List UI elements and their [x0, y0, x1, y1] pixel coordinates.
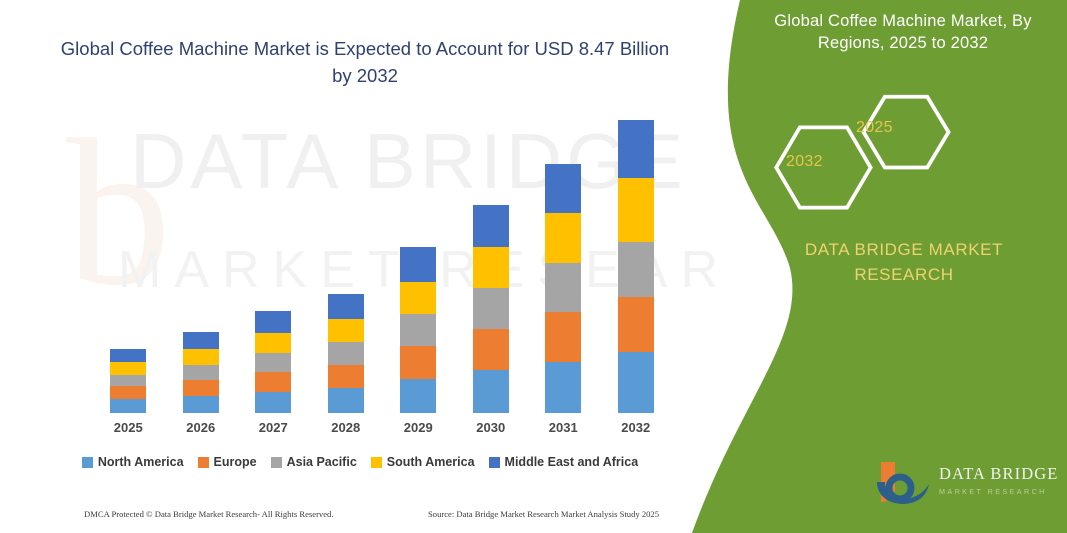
- x-axis-tick: 2027: [243, 420, 303, 435]
- bar-column: [545, 164, 581, 413]
- bar-segment: [183, 332, 219, 349]
- x-axis-tick: 2028: [316, 420, 376, 435]
- legend-item[interactable]: North America: [82, 455, 184, 469]
- bar-segment: [255, 372, 291, 392]
- legend-swatch-icon: [198, 457, 209, 468]
- bar-segment: [473, 329, 509, 371]
- legend-label: Europe: [214, 455, 257, 469]
- bar-segment: [255, 353, 291, 372]
- chart-title: Global Coffee Machine Market is Expected…: [60, 36, 670, 90]
- legend-item[interactable]: Asia Pacific: [271, 455, 357, 469]
- bar-segment: [400, 282, 436, 315]
- bar-segment: [618, 297, 654, 352]
- legend-label: Asia Pacific: [287, 455, 357, 469]
- legend-item[interactable]: Middle East and Africa: [489, 455, 639, 469]
- bar-segment: [400, 379, 436, 413]
- bar-segment: [110, 349, 146, 361]
- bar-segment: [400, 314, 436, 346]
- hexagon-2025-label: 2025: [856, 119, 893, 137]
- bar-segment: [183, 349, 219, 365]
- chart-area: Global Coffee Machine Market is Expected…: [0, 0, 720, 533]
- legend-label: South America: [387, 455, 475, 469]
- chart-legend: North AmericaEuropeAsia PacificSouth Ame…: [0, 455, 720, 469]
- legend-swatch-icon: [82, 457, 93, 468]
- x-axis-labels: 20252026202720282029203020312032: [92, 420, 672, 444]
- bar-segment: [618, 120, 654, 178]
- bar-column: [400, 247, 436, 413]
- x-axis-tick: 2031: [533, 420, 593, 435]
- bar-segment: [545, 312, 581, 362]
- bar-segment: [328, 388, 364, 413]
- x-axis-tick: 2025: [98, 420, 158, 435]
- bar-segment: [255, 333, 291, 353]
- bar-column: [255, 311, 291, 413]
- footer-copyright: DMCA Protected © Data Bridge Market Rese…: [84, 509, 334, 519]
- bar-segment: [545, 362, 581, 413]
- bar-segment: [328, 365, 364, 389]
- bar-column: [473, 205, 509, 413]
- bar-segment: [183, 396, 219, 413]
- bar-segment: [473, 247, 509, 289]
- x-axis-tick: 2032: [606, 420, 666, 435]
- bar-segment: [473, 205, 509, 247]
- bar-segment: [618, 242, 654, 297]
- x-axis-tick: 2030: [461, 420, 521, 435]
- bar-segment: [618, 178, 654, 242]
- stacked-bar-plot: [92, 120, 672, 413]
- footer: DMCA Protected © Data Bridge Market Rese…: [0, 505, 720, 527]
- bar-segment: [328, 342, 364, 364]
- panel-title: Global Coffee Machine Market, By Regions…: [747, 10, 1059, 55]
- footer-source: Source: Data Bridge Market Research Mark…: [428, 509, 659, 519]
- x-axis-tick: 2026: [171, 420, 231, 435]
- bar-segment: [545, 263, 581, 312]
- bar-segment: [183, 380, 219, 396]
- legend-swatch-icon: [271, 457, 282, 468]
- bar-segment: [400, 346, 436, 379]
- bar-segment: [328, 294, 364, 319]
- bar-segment: [473, 370, 509, 413]
- bar-segment: [545, 164, 581, 214]
- bar-column: [618, 120, 654, 413]
- logo-mark-icon: [875, 458, 935, 508]
- bar-segment: [110, 375, 146, 387]
- legend-swatch-icon: [371, 457, 382, 468]
- legend-swatch-icon: [489, 457, 500, 468]
- bar-segment: [473, 288, 509, 328]
- logo-title: DATA BRIDGE: [939, 464, 1058, 484]
- panel-brand-text: DATA BRIDGE MARKET RESEARCH: [753, 238, 1055, 287]
- legend-item[interactable]: South America: [371, 455, 475, 469]
- bar-segment: [255, 392, 291, 413]
- legend-item[interactable]: Europe: [198, 455, 257, 469]
- hexagon-2032-label: 2032: [786, 153, 823, 171]
- bar-segment: [400, 247, 436, 281]
- green-panel-content: Global Coffee Machine Market, By Regions…: [737, 0, 1067, 533]
- bar-segment: [618, 352, 654, 413]
- legend-label: North America: [98, 455, 184, 469]
- hexagon-group: 2032 2025: [755, 92, 1055, 212]
- bar-segment: [328, 319, 364, 343]
- infographic-page: Global Coffee Machine Market, By Regions…: [0, 0, 1067, 533]
- logo-text: DATA BRIDGE MARKET RESEARCH: [939, 464, 1058, 496]
- bar-segment: [255, 311, 291, 333]
- x-axis-tick: 2029: [388, 420, 448, 435]
- bar-segment: [183, 365, 219, 380]
- legend-label: Middle East and Africa: [505, 455, 639, 469]
- bar-segment: [110, 399, 146, 413]
- logo-subtitle: MARKET RESEARCH: [939, 487, 1058, 496]
- bar-column: [110, 349, 146, 413]
- bar-column: [328, 294, 364, 413]
- bar-segment: [110, 386, 146, 399]
- bar-segment: [110, 362, 146, 375]
- data-bridge-logo: DATA BRIDGE MARKET RESEARCH: [875, 458, 1065, 514]
- bar-column: [183, 332, 219, 413]
- bar-segment: [545, 213, 581, 263]
